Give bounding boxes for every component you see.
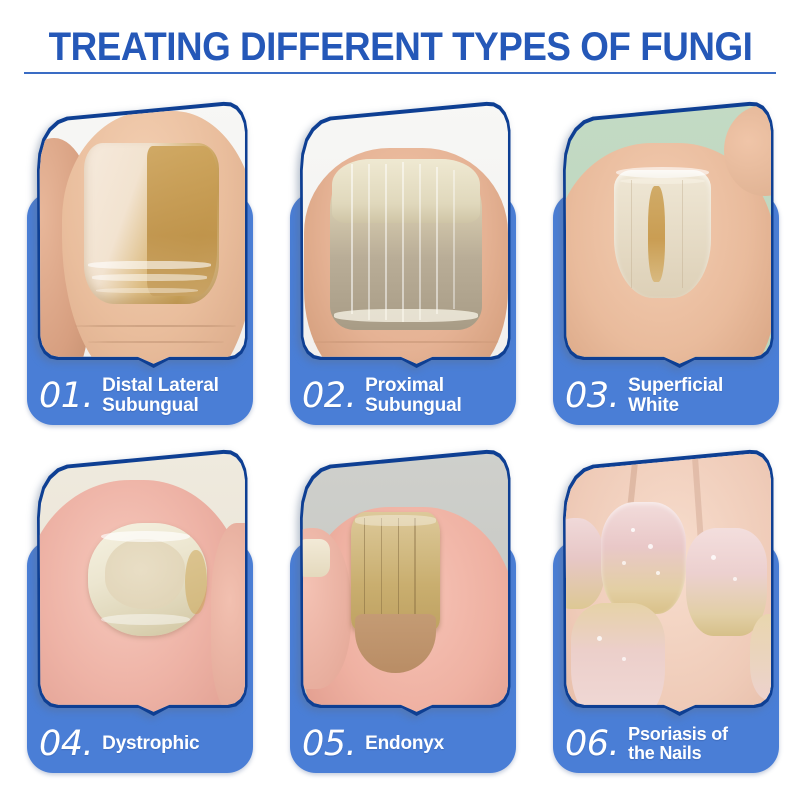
card-label-line1: Endonyx bbox=[365, 733, 444, 754]
card-number: 06. bbox=[565, 727, 619, 762]
card-label: Superficial White bbox=[628, 376, 723, 416]
endonyx-onychomycosis-photo bbox=[300, 448, 512, 716]
card-label-line2: Subungual bbox=[102, 395, 198, 416]
card-caption: 06. Psoriasis of the Nails bbox=[565, 716, 771, 772]
card-label: Proximal Subungual bbox=[365, 376, 461, 416]
card-number: 05. bbox=[302, 727, 356, 762]
card-number: 02. bbox=[302, 379, 356, 414]
card-photo-frame bbox=[37, 100, 249, 368]
card-photo-frame bbox=[37, 448, 249, 716]
fungi-type-card[interactable]: 03. Superficial White bbox=[551, 100, 781, 400]
card-photo-frame bbox=[563, 100, 775, 368]
page-header: TREATING DIFFERENT TYPES OF FUNGI bbox=[0, 26, 800, 74]
card-label-line1: Psoriasis of bbox=[628, 724, 728, 744]
card-photo-frame bbox=[300, 100, 512, 368]
card-number: 01. bbox=[39, 379, 93, 414]
fungi-type-card[interactable]: 01. Distal Lateral Subungual bbox=[25, 100, 255, 400]
fungi-type-card[interactable]: 05. Endonyx bbox=[288, 448, 518, 748]
card-label: Dystrophic bbox=[102, 734, 199, 754]
card-caption: 04. Dystrophic bbox=[39, 716, 245, 772]
card-caption: 01. Distal Lateral Subungual bbox=[39, 368, 245, 424]
title-underline-rule bbox=[24, 72, 776, 74]
card-caption: 02. Proximal Subungual bbox=[302, 368, 508, 424]
nail-psoriasis-photo bbox=[563, 448, 775, 716]
superficial-white-onychomycosis-photo bbox=[563, 100, 775, 368]
card-label-line1: Dystrophic bbox=[102, 733, 199, 754]
proximal-subungual-onychomycosis-photo bbox=[300, 100, 512, 368]
distal-lateral-subungual-onychomycosis-photo bbox=[37, 100, 249, 368]
card-label-line2: Subungual bbox=[365, 395, 461, 416]
card-label-line1: Superficial bbox=[628, 375, 723, 396]
card-label-line1: Distal Lateral bbox=[102, 375, 219, 396]
card-caption: 03. Superficial White bbox=[565, 368, 771, 424]
card-caption: 05. Endonyx bbox=[302, 716, 508, 772]
card-photo-frame bbox=[300, 448, 512, 716]
card-photo-frame bbox=[563, 448, 775, 716]
card-label-line2: White bbox=[628, 395, 679, 416]
page-title: TREATING DIFFERENT TYPES OF FUNGI bbox=[48, 26, 752, 68]
fungi-type-card[interactable]: 04. Dystrophic bbox=[25, 448, 255, 748]
card-label: Endonyx bbox=[365, 734, 444, 754]
card-number: 04. bbox=[39, 727, 93, 762]
card-label-line1: Proximal bbox=[365, 375, 444, 396]
fungi-type-card-grid: 01. Distal Lateral Subungual bbox=[25, 100, 782, 780]
fungi-type-card[interactable]: 02. Proximal Subungual bbox=[288, 100, 518, 400]
fungi-type-card[interactable]: 06. Psoriasis of the Nails bbox=[551, 448, 781, 748]
card-label: Distal Lateral Subungual bbox=[102, 376, 219, 416]
card-label-line2: the Nails bbox=[628, 743, 701, 763]
dystrophic-onychomycosis-photo bbox=[37, 448, 249, 716]
card-label: Psoriasis of the Nails bbox=[628, 725, 728, 762]
card-number: 03. bbox=[565, 379, 619, 414]
